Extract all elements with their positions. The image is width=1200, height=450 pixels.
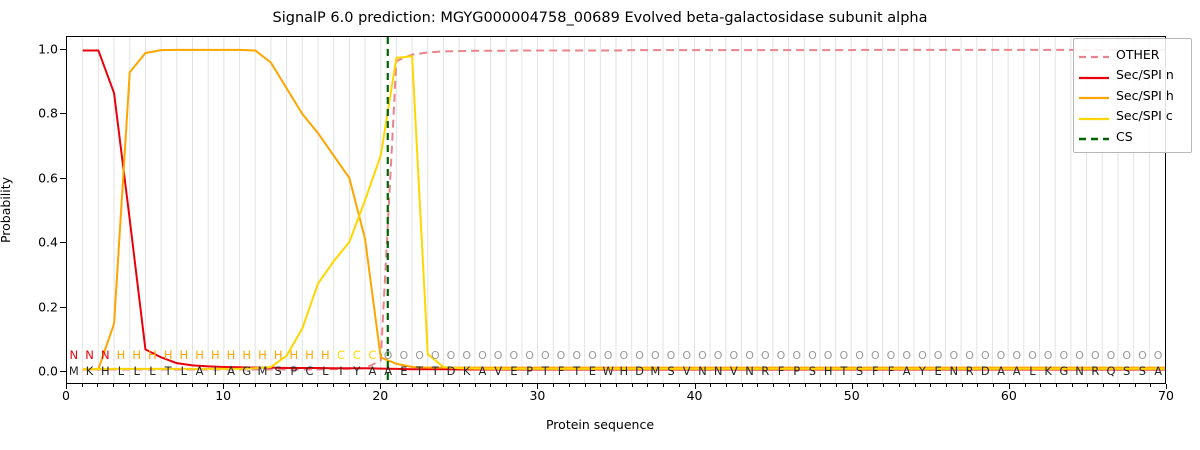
annotation-char: O [1154,348,1163,363]
residue-char: S [1123,364,1130,379]
annotation-char: O [902,348,911,363]
x-tick-label: 40 [687,388,703,403]
annotation-char: O [934,348,943,363]
legend-item: Sec/SPI h [1079,85,1186,106]
residue-char: L [181,364,187,379]
x-minor-tick-mark [412,384,413,387]
x-minor-tick-mark [255,384,256,387]
x-minor-tick-mark [773,384,774,387]
annotation-char: O [400,348,409,363]
annotation-char: O [808,348,817,363]
x-minor-tick-mark [349,384,350,387]
x-minor-tick-mark [286,384,287,387]
series-other [83,50,1165,370]
x-minor-tick-mark [475,384,476,387]
annotation-char: H [164,348,173,363]
residue-char: M [257,364,267,379]
annotation-char: N [70,348,79,363]
series-sec-spi-c [83,56,1165,369]
x-minor-tick-mark [993,384,994,387]
residue-char: T [840,364,847,379]
series-sec-spi-h [83,50,1165,370]
residue-char: C [306,364,314,379]
x-minor-tick-mark [317,384,318,387]
y-tick-label: 0.2 [0,299,58,314]
x-minor-tick-mark [97,384,98,387]
legend-label: Sec/SPI c [1116,108,1173,123]
residue-char: T [165,364,172,379]
residue-char: L [1029,364,1035,379]
annotation-char: O [478,348,487,363]
x-tick-label: 0 [62,388,70,403]
residue-char: L [118,364,124,379]
residue-char: K [1044,364,1052,379]
x-tick-label: 50 [844,388,860,403]
x-axis-label: Protein sequence [0,417,1200,432]
annotation-char: O [824,348,833,363]
legend: OTHERSec/SPI nSec/SPI hSec/SPI cCS [1073,38,1192,153]
x-minor-tick-mark [742,384,743,387]
annotation-char: H [290,348,299,363]
legend-swatch-icon [1079,89,1109,101]
residue-char: N [745,364,754,379]
x-minor-tick-mark [396,384,397,387]
annotation-char: O [840,348,849,363]
residue-char: D [635,364,644,379]
annotation-char: O [1060,348,1069,363]
residue-char: A [1013,364,1021,379]
residue-char: A [227,364,235,379]
legend-label: Sec/SPI h [1116,88,1174,103]
x-minor-tick-mark [569,384,570,387]
x-tick-label: 30 [529,388,545,403]
residue-char: S [856,364,863,379]
annotation-char: O [415,348,424,363]
annotation-char: O [431,348,440,363]
annotation-row: NNNHHHHHHHHHHHHHHCCCOOOOOOOOOOOOOOOOOOOO… [66,348,1166,363]
x-tick-mark [537,384,538,389]
annotation-char: O [745,348,754,363]
legend-item: Sec/SPI n [1079,65,1186,86]
residue-char: S [809,364,816,379]
legend-swatch-icon [1079,130,1109,142]
annotation-char: H [148,348,157,363]
residue-char: M [69,364,79,379]
x-minor-tick-mark [1135,384,1136,387]
legend-swatch-icon [1079,69,1109,81]
protein-sequence-row: MKHLLLTLAIAGMSPCLIYAAETTDKAVEPTFTEWHDMSV… [66,364,1166,379]
x-minor-tick-mark [82,384,83,387]
annotation-char: H [227,348,236,363]
y-tick-label: 1.0 [0,41,58,56]
annotation-char: O [588,348,597,363]
legend-label: OTHER [1116,47,1159,62]
residue-char: T [542,364,549,379]
y-tick-label: 0.0 [0,364,58,379]
x-tick-label: 20 [372,388,388,403]
annotation-char: O [462,348,471,363]
x-minor-tick-mark [506,384,507,387]
x-tick-mark [695,384,696,389]
residue-char: N [714,364,723,379]
residue-char: S [1139,364,1146,379]
annotation-char: H [180,348,189,363]
residue-char: T [573,364,580,379]
x-minor-tick-mark [710,384,711,387]
residue-char: N [698,364,707,379]
x-minor-tick-mark [1072,384,1073,387]
residue-char: F [558,364,565,379]
annotation-char: O [777,348,786,363]
annotation-char: O [698,348,707,363]
annotation-char: O [635,348,644,363]
annotation-char: O [730,348,739,363]
x-minor-tick-mark [915,384,916,387]
annotation-char: O [997,348,1006,363]
annotation-char: O [1122,348,1131,363]
annotation-char: C [353,348,361,363]
residue-char: M [650,364,660,379]
residue-char: V [730,364,738,379]
x-tick-mark [852,384,853,389]
x-minor-tick-mark [176,384,177,387]
x-minor-tick-mark [632,384,633,387]
x-minor-tick-mark [1119,384,1120,387]
legend-item: Sec/SPI c [1079,106,1186,127]
annotation-char: O [981,348,990,363]
annotation-char: O [667,348,676,363]
x-minor-tick-mark [789,384,790,387]
x-minor-tick-mark [192,384,193,387]
residue-char: I [339,364,342,379]
x-minor-tick-mark [977,384,978,387]
annotation-char: H [211,348,220,363]
x-minor-tick-mark [585,384,586,387]
x-minor-tick-mark [616,384,617,387]
x-minor-tick-mark [522,384,523,387]
x-minor-tick-mark [1103,384,1104,387]
residue-char: A [1154,364,1162,379]
x-minor-tick-mark [459,384,460,387]
residue-char: R [966,364,974,379]
annotation-char: O [447,348,456,363]
residue-char: K [463,364,471,379]
x-minor-tick-mark [145,384,146,387]
legend-item: CS [1079,126,1186,147]
x-minor-tick-mark [757,384,758,387]
x-minor-tick-mark [836,384,837,387]
x-tick-mark [1166,384,1167,389]
annotation-char: O [494,348,503,363]
annotation-char: N [101,348,110,363]
x-minor-tick-mark [600,384,601,387]
annotation-char: O [871,348,880,363]
residue-char: R [1091,364,1099,379]
annotation-char: O [965,348,974,363]
annotation-char: O [918,348,927,363]
annotation-char: O [620,348,629,363]
x-tick-mark [223,384,224,389]
x-minor-tick-mark [490,384,491,387]
residue-char: F [778,364,785,379]
residue-char: Y [353,364,360,379]
annotation-char: H [321,348,330,363]
x-tick-mark [1009,384,1010,389]
residue-char: P [290,364,297,379]
annotation-char: O [525,348,534,363]
legend-swatch-icon [1079,110,1109,122]
annotation-char: O [950,348,959,363]
x-minor-tick-mark [1040,384,1041,387]
annotation-char: N [85,348,94,363]
annotation-char: O [761,348,770,363]
legend-label: Sec/SPI n [1116,67,1174,82]
x-minor-tick-mark [663,384,664,387]
residue-char: E [400,364,407,379]
x-minor-tick-mark [443,384,444,387]
annotation-char: O [651,348,660,363]
annotation-char: H [258,348,267,363]
residue-char: N [1075,364,1084,379]
residue-char: I [214,364,217,379]
x-minor-tick-mark [270,384,271,387]
x-minor-tick-mark [129,384,130,387]
legend-item: OTHER [1079,44,1186,65]
residue-char: F [872,364,879,379]
annotation-char: O [682,348,691,363]
residue-char: A [478,364,486,379]
residue-char: Q [1106,364,1115,379]
annotation-char: O [1044,348,1053,363]
residue-char: D [447,364,456,379]
residue-char: F [888,364,895,379]
annotation-char: O [1028,348,1037,363]
annotation-char: O [541,348,550,363]
annotation-char: O [510,348,519,363]
annotation-char: H [274,348,283,363]
page-title: SignalP 6.0 prediction: MGYG000004758_00… [0,10,1200,26]
annotation-char: H [117,348,126,363]
x-tick-mark [66,384,67,389]
x-minor-tick-mark [1056,384,1057,387]
x-minor-tick-mark [1025,384,1026,387]
x-minor-tick-mark [867,384,868,387]
y-tick-label: 0.8 [0,106,58,121]
x-minor-tick-mark [899,384,900,387]
annotation-char: O [557,348,566,363]
annotation-char: C [368,348,376,363]
x-minor-tick-mark [239,384,240,387]
annotation-char: O [887,348,896,363]
residue-char: A [368,364,376,379]
annotation-char: O [1091,348,1100,363]
data-series-layer [67,37,1165,383]
x-minor-tick-mark [427,384,428,387]
x-tick-label: 10 [215,388,231,403]
signalp-prediction-figure: SignalP 6.0 prediction: MGYG000004758_00… [0,0,1200,450]
annotation-char: O [1075,348,1084,363]
residue-char: E [935,364,942,379]
residue-char: E [589,364,596,379]
residue-char: L [149,364,155,379]
x-tick-label: 70 [1158,388,1174,403]
x-tick-mark [380,384,381,389]
x-minor-tick-mark [365,384,366,387]
legend-swatch-icon [1079,48,1109,60]
x-minor-tick-mark [820,384,821,387]
x-minor-tick-mark [883,384,884,387]
annotation-char: O [855,348,864,363]
residue-char: V [683,364,691,379]
residue-char: A [384,364,392,379]
annotation-char: H [195,348,204,363]
plot-area [66,36,1166,384]
residue-char: V [494,364,502,379]
annotation-char: H [305,348,314,363]
annotation-char: H [132,348,141,363]
residue-char: G [242,364,251,379]
residue-char: H [824,364,833,379]
x-minor-tick-mark [930,384,931,387]
residue-char: H [620,364,629,379]
x-tick-label: 60 [1001,388,1017,403]
residue-char: D [981,364,990,379]
residue-char: T [416,364,423,379]
annotation-char: O [572,348,581,363]
x-minor-tick-mark [962,384,963,387]
residue-char: L [133,364,139,379]
annotation-char: O [714,348,723,363]
residue-char: P [526,364,533,379]
residue-char: L [322,364,328,379]
residue-char: P [793,364,800,379]
residue-char: A [997,364,1005,379]
y-axis-label: Probability [0,177,13,243]
series-sec-spi-n [83,50,1165,369]
x-minor-tick-mark [1087,384,1088,387]
x-minor-tick-mark [553,384,554,387]
residue-char: E [510,364,517,379]
residue-char: T [432,364,439,379]
annotation-char: C [337,348,345,363]
residue-char: A [196,364,204,379]
annotation-char: O [1107,348,1116,363]
x-minor-tick-mark [333,384,334,387]
annotation-char: O [792,348,801,363]
residue-char: N [950,364,959,379]
x-minor-tick-mark [647,384,648,387]
residue-char: H [101,364,110,379]
annotation-char: H [242,348,251,363]
residue-char: R [761,364,769,379]
x-minor-tick-mark [726,384,727,387]
legend-label: CS [1116,129,1133,144]
residue-char: S [667,364,674,379]
x-minor-tick-mark [679,384,680,387]
residue-char: G [1059,364,1068,379]
x-minor-tick-mark [946,384,947,387]
annotation-char: O [1012,348,1021,363]
x-minor-tick-mark [1150,384,1151,387]
residue-char: Y [919,364,926,379]
y-tick-label: 0.4 [0,235,58,250]
annotation-char: O [1138,348,1147,363]
annotation-char: O [604,348,613,363]
x-minor-tick-mark [805,384,806,387]
residue-char: W [602,364,613,379]
annotation-char: O [384,348,393,363]
x-minor-tick-mark [113,384,114,387]
x-minor-tick-mark [207,384,208,387]
y-tick-label: 0.6 [0,170,58,185]
residue-char: A [903,364,911,379]
x-minor-tick-mark [160,384,161,387]
x-minor-tick-mark [302,384,303,387]
residue-char: S [274,364,281,379]
residue-char: K [86,364,94,379]
